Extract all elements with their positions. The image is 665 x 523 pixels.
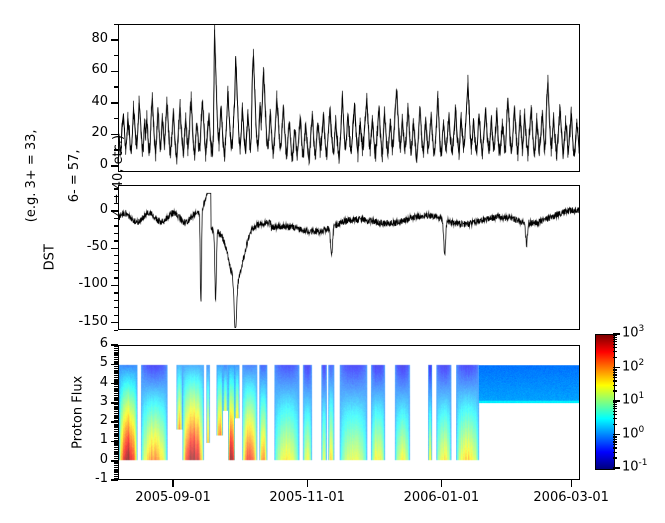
colorbar-minor-tick [613, 404, 617, 405]
kp-tick-label: 40 [56, 94, 108, 109]
dst-minor-tick [114, 203, 118, 204]
colorbar-minor-tick [613, 335, 617, 336]
kp-tick-label: 20 [56, 125, 108, 140]
kp-major-tick [111, 71, 118, 73]
proton-flux-minor-tick [114, 415, 118, 416]
proton-flux-minor-tick [114, 395, 118, 396]
proton-flux-major-tick [111, 344, 118, 346]
colorbar-minor-tick [613, 380, 617, 381]
colorbar-minor-tick [613, 452, 617, 453]
proton-flux-major-tick [111, 441, 118, 443]
proton-flux-minor-tick [114, 462, 118, 463]
colorbar-tick-label: 103 [622, 324, 644, 340]
kp-tick-label: 80 [56, 31, 108, 46]
colorbar-minor-tick [613, 439, 617, 440]
xaxis-major-tick [571, 480, 573, 487]
proton-flux-minor-tick [114, 447, 118, 448]
proton-flux-minor-tick [114, 456, 118, 457]
colorbar-minor-tick [613, 374, 617, 375]
colorbar-minor-tick [613, 411, 617, 412]
proton-flux-minor-tick [114, 431, 118, 432]
dst-tick-label: -50 [56, 239, 108, 254]
proton-flux-minor-tick [114, 348, 118, 349]
proton-flux-minor-tick [114, 366, 118, 367]
proton-flux-minor-tick [114, 361, 118, 362]
colorbar-minor-tick [613, 385, 617, 386]
kp-axis-label-line3: 6- = 57, [69, 102, 84, 250]
proton-flux-minor-tick [114, 379, 118, 380]
colorbar-gradient [596, 335, 614, 469]
proton-flux-minor-tick [114, 449, 118, 450]
colorbar-mantissa: 10 [622, 392, 639, 407]
dst-minor-tick [114, 240, 118, 241]
xaxis-tick-label: 2006-01-01 [386, 490, 496, 505]
proton-flux-tick-label: 3 [56, 394, 108, 409]
proton-flux-minor-tick [114, 476, 118, 477]
dst-minor-tick [114, 277, 118, 278]
colorbar [595, 334, 615, 470]
proton-flux-minor-tick [114, 372, 118, 373]
colorbar-minor-tick [613, 457, 617, 458]
colorbar-mantissa: 10 [622, 459, 639, 474]
colorbar-exponent: -1 [639, 458, 648, 468]
dst-major-tick [111, 285, 118, 287]
dst-minor-tick [114, 270, 118, 271]
colorbar-mantissa: 10 [622, 325, 639, 340]
kp-major-tick [111, 165, 118, 167]
xaxis-tick-label: 2005-09-01 [118, 490, 228, 505]
proton-flux-minor-tick [114, 386, 118, 387]
proton-flux-minor-tick [114, 424, 118, 425]
proton-flux-minor-tick [114, 474, 118, 475]
proton-flux-tick-label: 2 [56, 413, 108, 428]
kp-major-tick [111, 39, 118, 41]
kp-minor-tick [114, 118, 118, 119]
proton-flux-minor-tick [114, 426, 118, 427]
colorbar-major-tick [613, 333, 620, 335]
colorbar-minor-tick [613, 424, 617, 425]
colorbar-minor-tick [613, 377, 617, 378]
proton-flux-minor-tick [114, 429, 118, 430]
proton-flux-minor-tick [114, 352, 118, 353]
dst-minor-tick [114, 300, 118, 301]
colorbar-minor-tick [613, 418, 617, 419]
kp-major-tick [111, 102, 118, 104]
proton-flux-tick-label: -1 [56, 471, 108, 486]
colorbar-major-tick [613, 467, 620, 469]
dst-minor-tick [114, 233, 118, 234]
proton-flux-minor-tick [114, 465, 118, 466]
proton-flux-major-tick [111, 383, 118, 385]
kp-minor-tick [114, 149, 118, 150]
proton-flux-minor-tick [114, 354, 118, 355]
proton-flux-tick-label: 1 [56, 432, 108, 447]
xaxis-major-tick [172, 480, 174, 487]
kp-axis-label-line2: (e.g. 3+ = 33, [25, 102, 40, 250]
panel-proton-flux [118, 345, 580, 480]
proton-flux-minor-tick [114, 413, 118, 414]
proton-flux-minor-tick [114, 390, 118, 391]
colorbar-minor-tick [613, 344, 617, 345]
proton-flux-minor-tick [114, 444, 118, 445]
colorbar-tick-label: 101 [622, 391, 644, 407]
colorbar-tick-label: 100 [622, 425, 644, 441]
colorbar-minor-tick [613, 408, 617, 409]
proton-flux-minor-tick [114, 350, 118, 351]
proton-flux-tick-label: 0 [56, 452, 108, 467]
panel-dst [118, 185, 580, 330]
proton-flux-tick-label: 4 [56, 375, 108, 390]
colorbar-mantissa: 10 [622, 359, 639, 374]
proton-flux-major-tick [111, 364, 118, 366]
dst-tick-label: -100 [56, 276, 108, 291]
colorbar-minor-tick [613, 357, 617, 358]
xaxis-tick-label: 2006-03-01 [516, 490, 626, 505]
proton-flux-minor-tick [114, 404, 118, 405]
colorbar-exponent: 2 [639, 358, 645, 368]
proton-flux-tick-label: 6 [56, 336, 108, 351]
proton-flux-minor-tick [114, 408, 118, 409]
proton-flux-minor-tick [114, 370, 118, 371]
colorbar-minor-tick [613, 339, 617, 340]
colorbar-exponent: 1 [639, 391, 645, 401]
proton-flux-spectrogram [119, 346, 579, 479]
proton-flux-major-tick [111, 402, 118, 404]
dst-tick-label: 0 [56, 202, 108, 217]
colorbar-major-tick [613, 367, 620, 369]
colorbar-minor-tick [613, 402, 617, 403]
colorbar-minor-tick [613, 369, 617, 370]
colorbar-minor-tick [613, 406, 617, 407]
dst-minor-tick [114, 263, 118, 264]
dst-timeseries-plot [119, 186, 579, 329]
dst-major-tick [111, 248, 118, 250]
kp-minor-tick [114, 24, 118, 25]
colorbar-mantissa: 10 [622, 426, 639, 441]
dst-minor-tick [114, 330, 118, 331]
proton-flux-minor-tick [114, 388, 118, 389]
proton-flux-minor-tick [114, 406, 118, 407]
proton-flux-minor-tick [114, 451, 118, 452]
dst-major-tick [111, 210, 118, 212]
xaxis-tick-label: 2005-11-01 [252, 490, 362, 505]
colorbar-tick-label: 102 [622, 358, 644, 374]
proton-flux-minor-tick [114, 438, 118, 439]
kp-tick-label: 0 [56, 157, 108, 172]
colorbar-minor-tick [613, 441, 617, 442]
proton-flux-minor-tick [114, 399, 118, 400]
xaxis-major-tick [441, 480, 443, 487]
dst-major-tick [111, 322, 118, 324]
proton-flux-minor-tick [114, 471, 118, 472]
kp-major-tick [111, 134, 118, 136]
colorbar-minor-tick [613, 372, 617, 373]
dst-minor-tick [114, 292, 118, 293]
proton-flux-tick-label: 5 [56, 355, 108, 370]
xaxis-major-tick [307, 480, 309, 487]
proton-flux-minor-tick [114, 469, 118, 470]
proton-flux-minor-tick [114, 393, 118, 394]
colorbar-minor-tick [613, 444, 617, 445]
colorbar-exponent: 3 [639, 324, 645, 334]
colorbar-minor-tick [613, 390, 617, 391]
colorbar-minor-tick [613, 337, 617, 338]
dst-minor-tick [114, 307, 118, 308]
dst-minor-tick [114, 315, 118, 316]
kp-timeseries-plot [119, 25, 579, 171]
colorbar-minor-tick [613, 347, 617, 348]
colorbar-tick-label: 10-1 [622, 458, 648, 474]
kp-minor-tick [114, 55, 118, 56]
dst-minor-tick [114, 255, 118, 256]
dst-minor-tick [114, 188, 118, 189]
proton-flux-minor-tick [114, 368, 118, 369]
proton-flux-minor-tick [114, 467, 118, 468]
colorbar-minor-tick [613, 447, 617, 448]
dst-minor-tick [114, 218, 118, 219]
colorbar-major-tick [613, 400, 620, 402]
colorbar-major-tick [613, 434, 620, 436]
panel-kp [118, 24, 580, 172]
proton-flux-minor-tick [114, 357, 118, 358]
proton-flux-minor-tick [114, 417, 118, 418]
dst-minor-tick [114, 225, 118, 226]
colorbar-minor-tick [613, 370, 617, 371]
dst-tick-label: -150 [56, 314, 108, 329]
proton-flux-major-tick [111, 460, 118, 462]
proton-flux-minor-tick [114, 359, 118, 360]
proton-flux-minor-tick [114, 442, 118, 443]
colorbar-minor-tick [613, 436, 617, 437]
kp-tick-label: 60 [56, 62, 108, 77]
proton-flux-minor-tick [114, 377, 118, 378]
colorbar-minor-tick [613, 437, 617, 438]
proton-flux-minor-tick [114, 433, 118, 434]
proton-flux-major-tick [111, 479, 118, 481]
proton-flux-minor-tick [114, 435, 118, 436]
proton-flux-minor-tick [114, 453, 118, 454]
dst-minor-tick [114, 196, 118, 197]
proton-flux-minor-tick [114, 375, 118, 376]
figure-root: Kp (e.g. 3+ = 33, 6- = 57, 4 = 40, etc.)… [0, 0, 665, 523]
colorbar-minor-tick [613, 414, 617, 415]
colorbar-minor-tick [613, 341, 617, 342]
proton-flux-major-tick [111, 421, 118, 423]
kp-minor-tick [114, 86, 118, 87]
colorbar-exponent: 0 [639, 425, 645, 435]
proton-flux-minor-tick [114, 411, 118, 412]
proton-flux-minor-tick [114, 397, 118, 398]
colorbar-minor-tick [613, 351, 617, 352]
